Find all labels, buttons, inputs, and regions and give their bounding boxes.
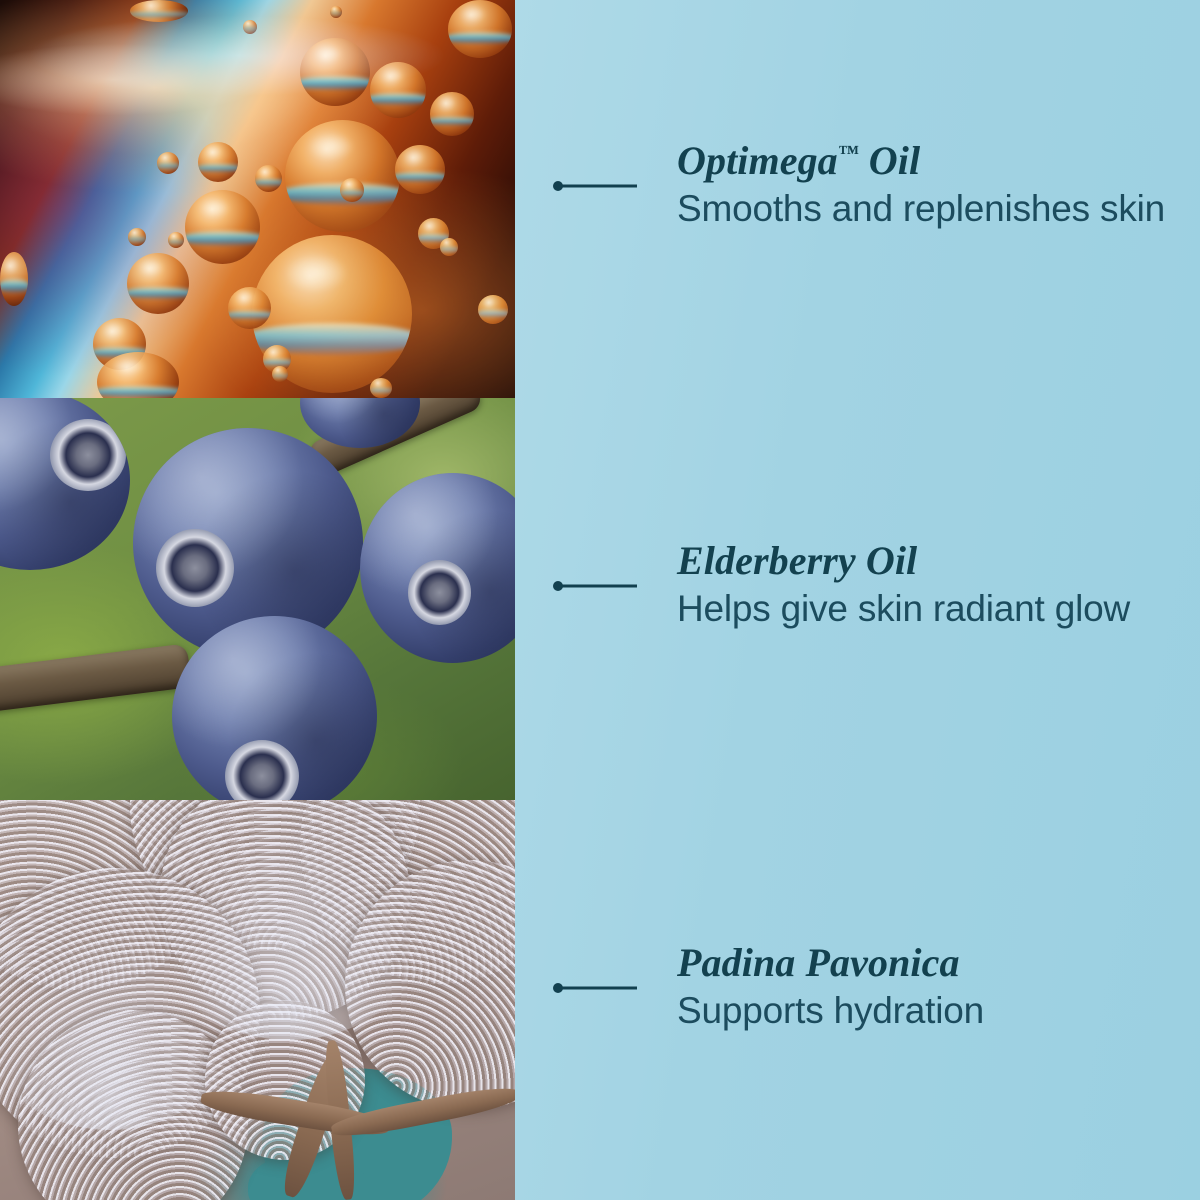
ingredient-name: Optimega™ Oil bbox=[677, 140, 1200, 182]
ingredient-name-suffix: Oil bbox=[859, 138, 921, 183]
callout-padina-pavonica: Padina Pavonica Supports hydration bbox=[515, 942, 1200, 1033]
callout-optimega-oil: Optimega™ Oil Smooths and replenishes sk… bbox=[515, 140, 1200, 231]
oil-bubble bbox=[243, 20, 257, 34]
oil-bubble bbox=[130, 0, 188, 22]
connector-line-icon bbox=[559, 184, 637, 187]
oil-bubble bbox=[263, 345, 291, 373]
oil-bubble bbox=[440, 238, 458, 256]
oil-bubble bbox=[252, 235, 412, 393]
oil-bubble bbox=[330, 6, 342, 18]
berry-stem bbox=[0, 643, 192, 712]
oil-bubble bbox=[272, 366, 288, 382]
oil-bubble bbox=[228, 287, 271, 329]
oil-bubble bbox=[255, 165, 282, 192]
oil-bubble bbox=[168, 232, 184, 248]
ingredient-name-main: Optimega bbox=[677, 138, 838, 183]
ingredient-benefit: Helps give skin radiant glow bbox=[677, 588, 1200, 631]
callout-text-block: Padina Pavonica Supports hydration bbox=[677, 942, 1200, 1033]
oil-bubble bbox=[97, 352, 179, 398]
ingredient-infographic: Optimega™ Oil Smooths and replenishes sk… bbox=[0, 0, 1200, 1200]
oil-bubble bbox=[157, 152, 179, 174]
berry-calyx bbox=[408, 560, 471, 625]
ingredient-callout-list: Optimega™ Oil Smooths and replenishes sk… bbox=[515, 0, 1200, 1200]
berry-calyx bbox=[156, 529, 234, 607]
ingredient-benefit: Supports hydration bbox=[677, 990, 1200, 1033]
oil-bubble bbox=[340, 178, 364, 202]
ingredient-benefit: Smooths and replenishes skin bbox=[677, 188, 1200, 231]
ingredient-name: Elderberry Oil bbox=[677, 540, 1200, 582]
oil-bubble bbox=[0, 252, 28, 306]
elderberry bbox=[172, 616, 377, 800]
ingredient-image-strip bbox=[0, 0, 515, 1200]
oil-bubble bbox=[370, 62, 426, 118]
ingredient-photo-padina-pavonica bbox=[0, 800, 515, 1200]
oil-bubble bbox=[127, 253, 189, 314]
oil-bubble bbox=[395, 145, 445, 194]
oil-bubble bbox=[478, 295, 508, 324]
ingredient-name: Padina Pavonica bbox=[677, 942, 1200, 984]
ingredient-photo-oil-bubbles bbox=[0, 0, 515, 398]
oil-bubble bbox=[93, 318, 146, 370]
berry-calyx bbox=[50, 419, 126, 491]
dot-and-line-connector-icon bbox=[553, 181, 677, 191]
elderberry bbox=[0, 398, 130, 570]
oil-bubble bbox=[185, 190, 260, 264]
ingredient-name-main: Padina Pavonica bbox=[677, 940, 960, 985]
oil-bubble bbox=[285, 120, 400, 232]
callout-elderberry-oil: Elderberry Oil Helps give skin radiant g… bbox=[515, 540, 1200, 631]
trademark-symbol: ™ bbox=[838, 142, 859, 165]
oil-bubble bbox=[418, 218, 449, 249]
oil-bubble bbox=[198, 142, 238, 182]
dot-and-line-connector-icon bbox=[553, 581, 677, 591]
oil-bubble bbox=[448, 0, 512, 58]
callout-text-block: Elderberry Oil Helps give skin radiant g… bbox=[677, 540, 1200, 631]
oil-bubble bbox=[370, 378, 392, 398]
elderberry bbox=[360, 473, 515, 663]
oil-bubble bbox=[300, 38, 370, 106]
dot-and-line-connector-icon bbox=[553, 983, 677, 993]
connector-line-icon bbox=[559, 584, 637, 587]
ingredient-photo-elderberries bbox=[0, 398, 515, 800]
oil-bubble bbox=[430, 92, 474, 136]
oil-bubble bbox=[128, 228, 146, 246]
connector-line-icon bbox=[559, 986, 637, 989]
ingredient-name-main: Elderberry Oil bbox=[677, 538, 917, 583]
callout-text-block: Optimega™ Oil Smooths and replenishes sk… bbox=[677, 140, 1200, 231]
